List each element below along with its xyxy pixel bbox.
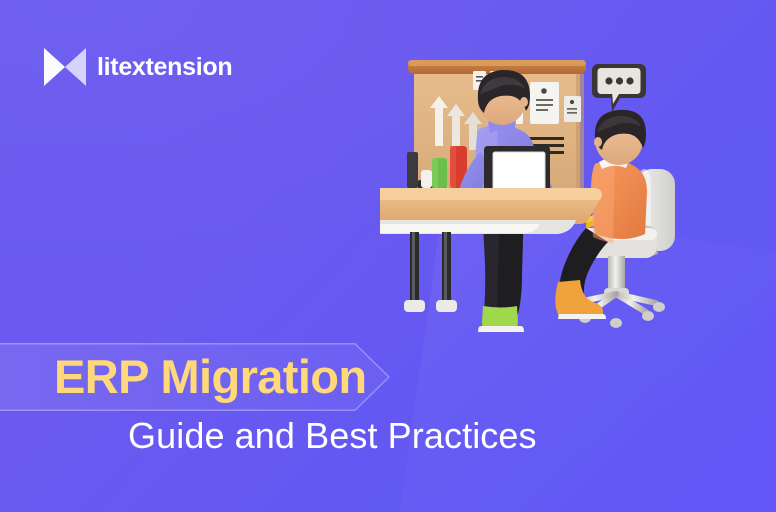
page-subtitle: Guide and Best Practices bbox=[128, 412, 537, 460]
promo-banner-canvas: litextension ERP Migration Guide and Bes… bbox=[0, 0, 776, 512]
desk-legs bbox=[404, 232, 457, 312]
page-title: ERP Migration bbox=[54, 346, 367, 408]
brand-logo[interactable]: litextension bbox=[44, 48, 232, 86]
speech-bubble-icon bbox=[592, 64, 646, 112]
brand-name: litextension bbox=[97, 55, 232, 80]
litextension-bowtie-mark-icon bbox=[44, 48, 86, 86]
hero-illustration bbox=[380, 42, 700, 342]
